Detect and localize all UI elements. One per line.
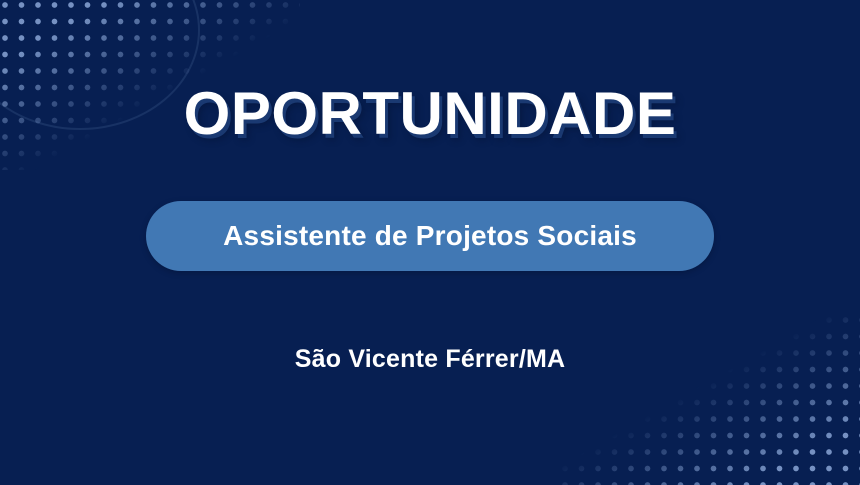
location-label: São Vicente Férrer/MA (295, 345, 566, 374)
job-title-badge: Assistente de Projetos Sociais (146, 201, 714, 271)
poster-content: OPORTUNIDADE Assistente de Projetos Soci… (0, 0, 860, 485)
job-title-label: Assistente de Projetos Sociais (223, 220, 637, 252)
opportunity-poster: OPORTUNIDADE Assistente de Projetos Soci… (0, 0, 860, 485)
page-title: OPORTUNIDADE (184, 82, 677, 145)
